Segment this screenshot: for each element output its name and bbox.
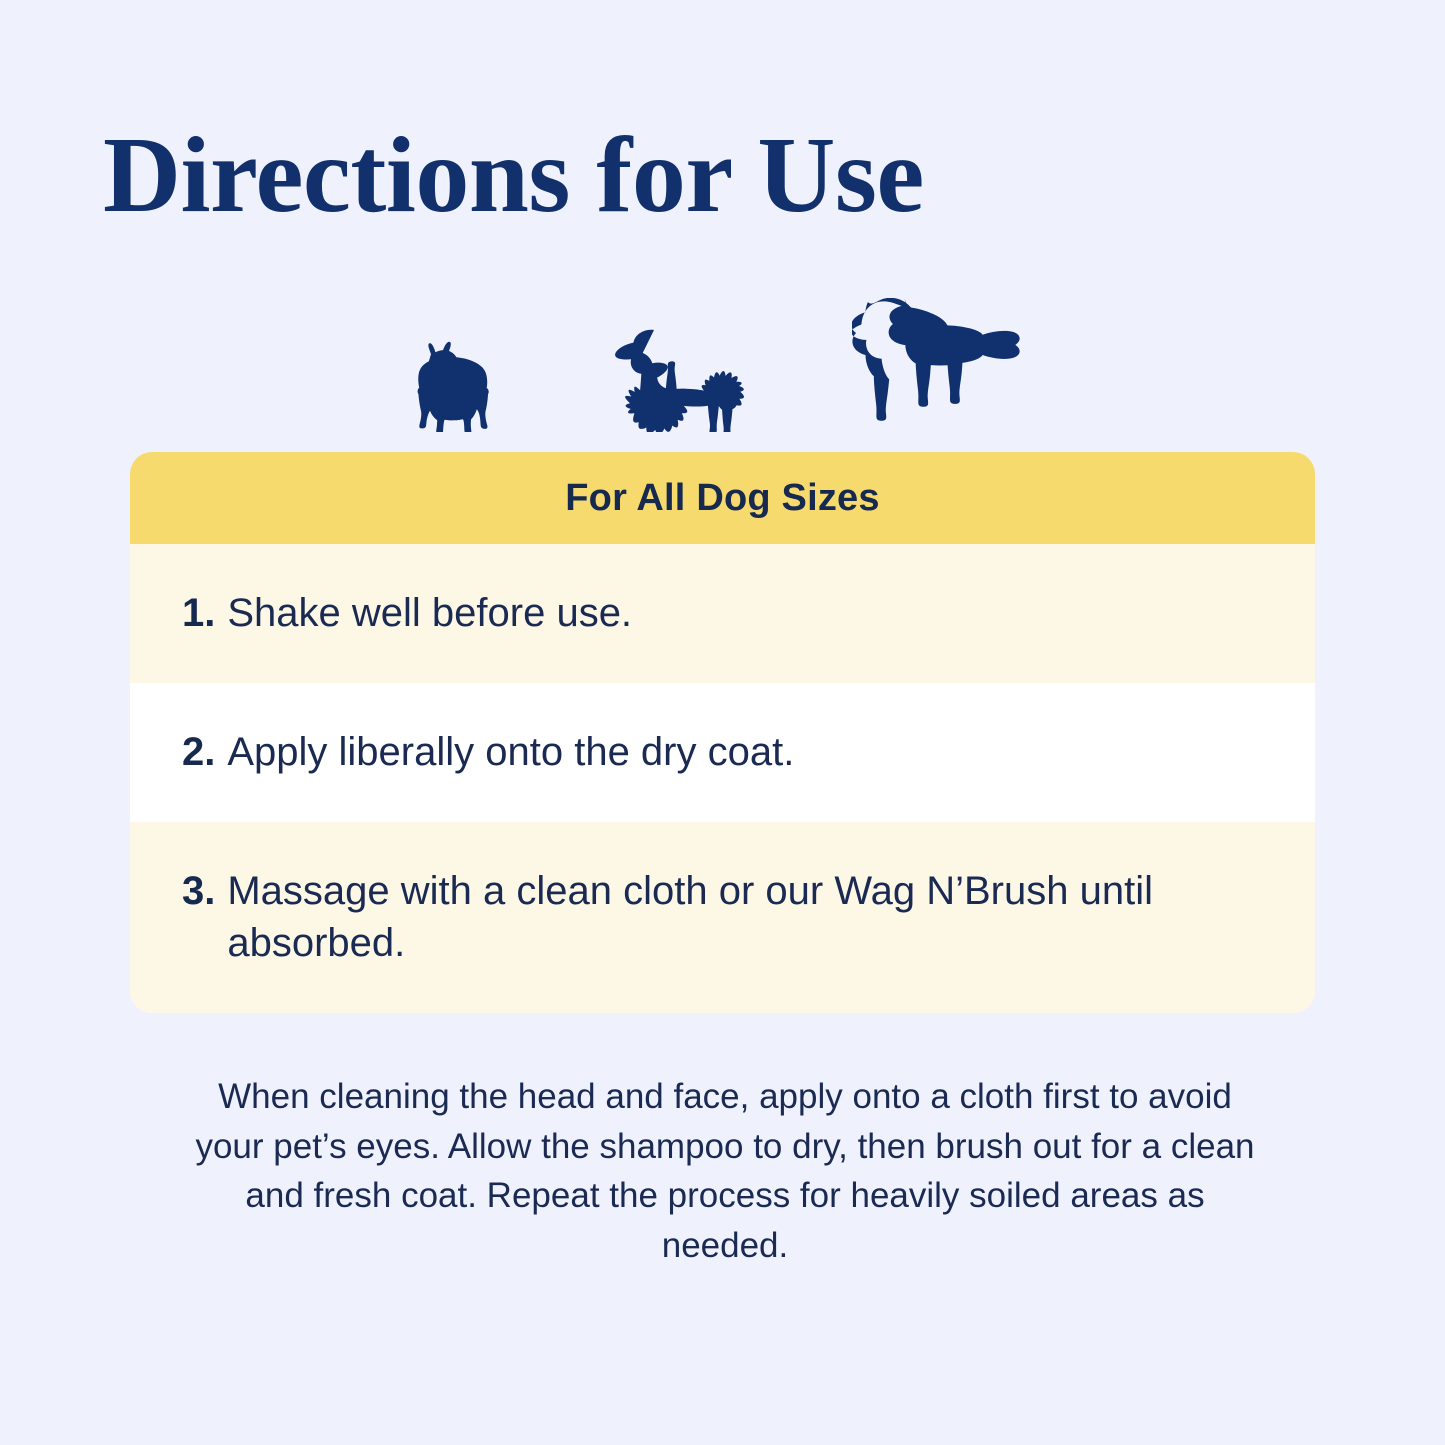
step-number: 3. bbox=[182, 866, 215, 917]
step-number: 2. bbox=[182, 727, 215, 778]
directions-for-use-page: Directions for Use For All Dog Sizes 1. … bbox=[0, 0, 1445, 1445]
step-number: 1. bbox=[182, 588, 215, 639]
instruction-step-2: 2. Apply liberally onto the dry coat. bbox=[130, 683, 1315, 822]
step-text: Apply liberally onto the dry coat. bbox=[227, 727, 794, 778]
small-dog-silhouette bbox=[400, 340, 512, 432]
card-header-title: For All Dog Sizes bbox=[565, 477, 879, 520]
instructions-card: For All Dog Sizes 1. Shake well before u… bbox=[130, 452, 1315, 1013]
footer-note: When cleaning the head and face, apply o… bbox=[190, 1072, 1260, 1271]
page-title: Directions for Use bbox=[103, 119, 1353, 232]
card-header: For All Dog Sizes bbox=[130, 452, 1315, 544]
instruction-step-1: 1. Shake well before use. bbox=[130, 544, 1315, 683]
large-dog-silhouette bbox=[852, 298, 1054, 432]
step-text: Shake well before use. bbox=[227, 588, 632, 639]
instruction-step-3: 3. Massage with a clean cloth or our Wag… bbox=[130, 822, 1315, 1012]
medium-dog-silhouette bbox=[614, 320, 774, 432]
dog-size-illustration-row bbox=[0, 292, 1445, 432]
step-text: Massage with a clean cloth or our Wag N’… bbox=[227, 866, 1237, 968]
